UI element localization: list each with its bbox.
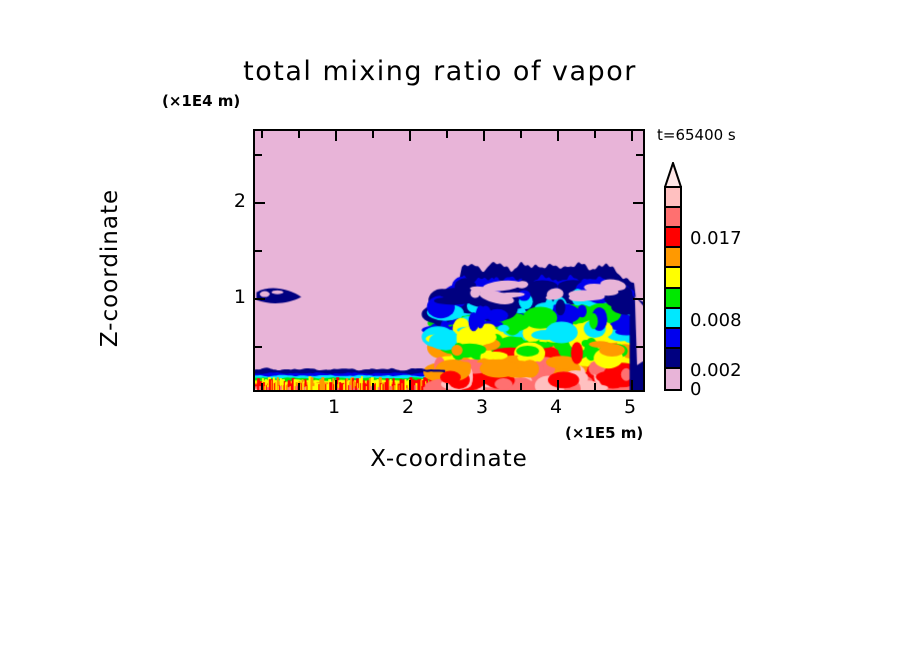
x-tick-minor	[298, 383, 300, 390]
x-tick-top-minor	[446, 131, 448, 138]
x-tick-major-2	[409, 380, 411, 390]
colorbar-over-arrow-icon	[664, 162, 682, 188]
y-tick-minor	[255, 346, 262, 348]
y-tick-right-major	[633, 202, 643, 204]
x-tick-minor	[594, 383, 596, 390]
colorbar-band-0	[666, 369, 680, 389]
colorbar-label-0017: 0.017	[690, 228, 742, 249]
colorbar-separator	[666, 246, 680, 248]
x-tick-minor	[446, 383, 448, 390]
x-tick-minor	[261, 383, 263, 390]
y-tick-minor	[255, 250, 262, 252]
contour-field-canvas	[255, 131, 643, 390]
x-tick-label-3: 3	[462, 396, 502, 418]
colorbar-separator	[666, 287, 680, 289]
x-axis-title: X-coordinate	[249, 446, 649, 472]
x-tick-top-major	[335, 131, 337, 141]
y-tick-label-2: 2	[216, 190, 246, 212]
colorbar-separator	[666, 266, 680, 268]
y-axis-title: Z-coordinate	[97, 148, 123, 388]
x-tick-top-major	[409, 131, 411, 141]
colorbar-band-0.013	[666, 248, 680, 268]
colorbar-band-0.004	[666, 329, 680, 349]
y-tick-right-minor	[636, 250, 643, 252]
y-tick-label-1: 1	[216, 286, 246, 308]
x-tick-label-5: 5	[610, 396, 650, 418]
x-tick-label-1: 1	[314, 396, 354, 418]
x-tick-top-minor	[298, 131, 300, 138]
colorbar-separator	[666, 226, 680, 228]
colorbar-separator	[666, 206, 680, 208]
colorbar-separator	[666, 367, 680, 369]
x-tick-top-major	[631, 131, 633, 141]
x-axis-unit-label: (×1E5 m)	[565, 424, 643, 442]
x-tick-top-minor	[261, 131, 263, 138]
colorbar-separator	[666, 307, 680, 309]
y-tick-right-minor	[636, 154, 643, 156]
colorbar-separator	[666, 347, 680, 349]
x-tick-major-5	[631, 380, 633, 390]
x-tick-top-major	[483, 131, 485, 141]
x-tick-label-2: 2	[388, 396, 428, 418]
colorbar-band-0.006	[666, 309, 680, 329]
figure-root: total mixing ratio of vapor (×1E4 m) t=6…	[0, 0, 904, 654]
x-tick-top-minor	[372, 131, 374, 138]
colorbar-band-0.015	[666, 228, 680, 248]
y-tick-major-1	[255, 298, 265, 300]
x-tick-major-3	[483, 380, 485, 390]
x-tick-minor	[372, 383, 374, 390]
colorbar-band-0.019	[666, 188, 680, 208]
x-tick-label-4: 4	[536, 396, 576, 418]
y-tick-minor	[255, 154, 262, 156]
x-tick-minor	[520, 383, 522, 390]
colorbar-label-0: 0	[690, 379, 701, 400]
colorbar-label-0008: 0.008	[690, 310, 742, 331]
x-tick-top-minor	[594, 131, 596, 138]
plot-area	[253, 129, 645, 392]
colorbar[interactable]	[664, 186, 682, 391]
page-title: total mixing ratio of vapor	[160, 56, 720, 87]
colorbar-band-0.017	[666, 208, 680, 228]
colorbar-label-0002: 0.002	[690, 360, 742, 381]
y-axis-unit-label: (×1E4 m)	[162, 92, 240, 110]
time-stamp-annotation: t=65400 s	[657, 126, 736, 144]
x-tick-major-1	[335, 380, 337, 390]
y-tick-major-2	[255, 202, 265, 204]
y-tick-right-minor	[636, 346, 643, 348]
colorbar-band-0.002	[666, 349, 680, 369]
colorbar-band-0.010	[666, 268, 680, 288]
y-tick-right-major	[633, 298, 643, 300]
colorbar-band-0.008	[666, 289, 680, 309]
colorbar-separator	[666, 327, 680, 329]
x-tick-top-minor	[520, 131, 522, 138]
x-tick-top-major	[557, 131, 559, 141]
x-tick-major-4	[557, 380, 559, 390]
